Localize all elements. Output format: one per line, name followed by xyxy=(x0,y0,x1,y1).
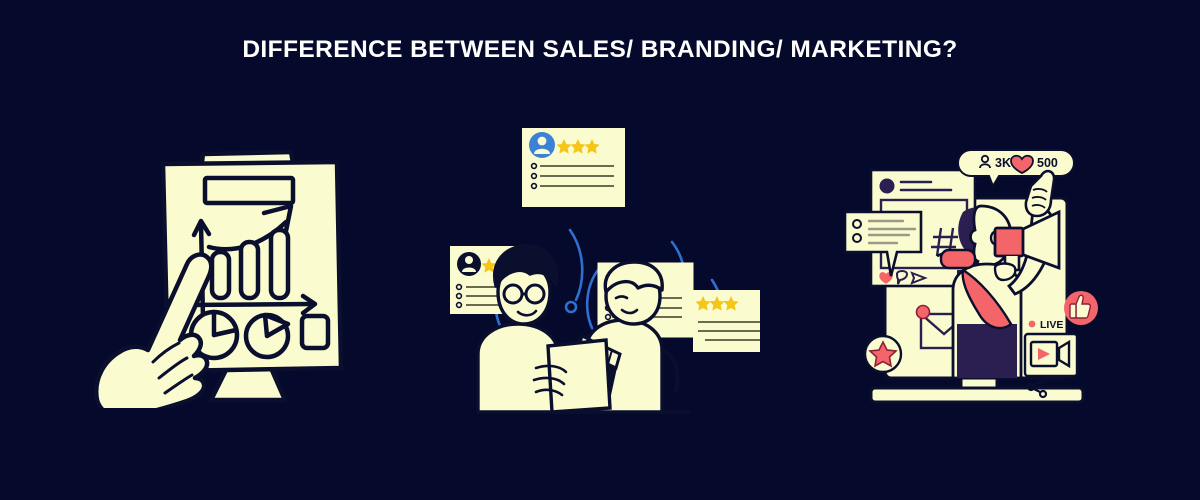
chart-bar-2 xyxy=(241,242,258,298)
megaphone-grip-hand xyxy=(995,264,1015,281)
live-label: LIVE xyxy=(1040,319,1063,331)
person-glasses-body xyxy=(478,324,558,412)
square-legend-block xyxy=(302,316,328,348)
blue-swirl-mid-dot xyxy=(566,302,576,312)
chart-x-axis xyxy=(187,304,313,305)
screen-base xyxy=(871,388,1083,402)
branding-reviews-illustration xyxy=(440,100,760,420)
post-avatar xyxy=(880,179,895,194)
blue-swirl-mid2 xyxy=(587,270,598,328)
unread-badge xyxy=(917,306,930,319)
thumbsup-badge[interactable] xyxy=(1064,291,1098,325)
review-card-top-center xyxy=(522,128,625,207)
avatar-head xyxy=(465,256,473,264)
marketing-social-illustration: 3K 500 LIVE xyxy=(845,128,1115,408)
likes-value: 500 xyxy=(1037,156,1058,170)
pointing-hand xyxy=(1026,171,1054,216)
live-dot xyxy=(1029,321,1036,328)
poster-canvas: DIFFERENCE BETWEEN SALES/ BRANDING/ MARK… xyxy=(0,0,1200,500)
person-sleeve xyxy=(941,250,975,268)
star-badge[interactable] xyxy=(865,336,901,372)
review-card-far-right xyxy=(693,290,760,352)
megaphone-body xyxy=(995,228,1023,256)
board-title-bar xyxy=(205,178,293,203)
sales-presentation-illustration xyxy=(75,128,395,408)
blue-swirl-mid xyxy=(570,230,582,300)
avatar-head xyxy=(538,137,547,146)
person-blond-arm xyxy=(662,350,677,390)
chart-bar-3 xyxy=(271,230,288,298)
person-trousers xyxy=(957,324,1017,378)
page-title: DIFFERENCE BETWEEN SALES/ BRANDING/ MARK… xyxy=(0,36,1200,64)
followers-value: 3K xyxy=(995,156,1011,170)
paper-sheet xyxy=(548,340,610,412)
thumb-base xyxy=(1070,304,1076,318)
board-stand xyxy=(211,368,285,400)
chart-bar-1 xyxy=(212,252,229,298)
